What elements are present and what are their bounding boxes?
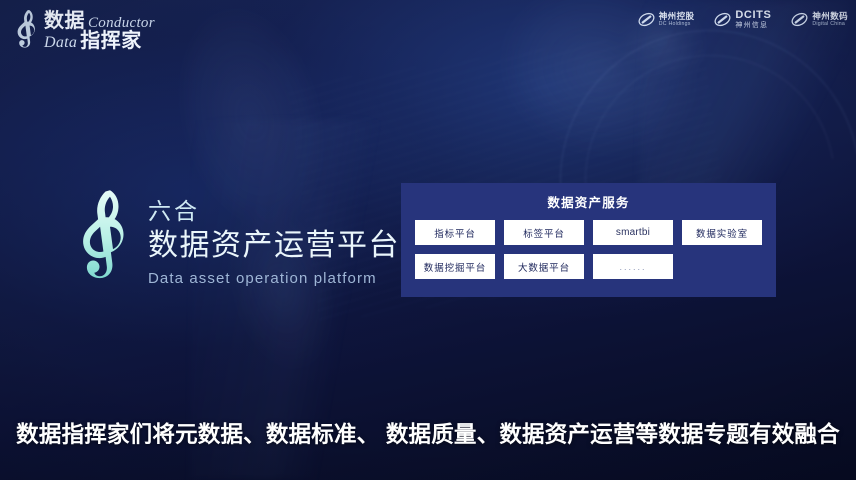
swirl-mark-icon <box>638 11 655 28</box>
partner-name-cn: 神州控股 <box>659 12 695 21</box>
partner-name-en: Digital China <box>812 22 848 27</box>
service-card-dashuju-pingtai[interactable]: 大数据平台 <box>504 254 584 279</box>
slide-canvas: 数据 Conductor Data 指挥家 神州控股 DC Holdings <box>0 0 856 480</box>
service-card-shuju-shiyanshi[interactable]: 数据实验室 <box>682 220 762 245</box>
partner-text: 神州控股 DC Holdings <box>659 12 695 27</box>
partner-logo-dcits: DCITS 神州信息 <box>714 10 771 29</box>
treble-clef-icon <box>72 186 134 298</box>
brand-line-1: 数据 Conductor <box>44 11 155 31</box>
service-card-row-1: 指标平台 标签平台 smartbi 数据实验室 <box>415 220 762 245</box>
partner-text: 神州数码 Digital China <box>812 12 848 27</box>
brand-en-2: Data <box>44 35 77 51</box>
service-card-more[interactable]: ...... <box>593 254 673 279</box>
service-card-biaoqian-pingtai[interactable]: 标签平台 <box>504 220 584 245</box>
partner-logo-dc-holdings: 神州控股 DC Holdings <box>638 11 695 28</box>
brand-en-1: Conductor <box>88 16 155 31</box>
slide-caption: 数据指挥家们将元数据、数据标准、 数据质量、数据资产运营等数据专题有效融合 <box>0 417 856 449</box>
swirl-mark-icon <box>714 11 731 28</box>
partner-text: DCITS 神州信息 <box>735 10 771 29</box>
partner-logo-group: 神州控股 DC Holdings DCITS 神州信息 神州数码 Digital… <box>638 10 848 29</box>
panel-title: 数据资产服务 <box>415 192 762 211</box>
partner-name-cn: DCITS <box>735 10 771 22</box>
hero-title: 数据资产运营平台 <box>148 226 400 265</box>
partner-name-en: DC Holdings <box>659 22 695 27</box>
treble-clef-icon <box>12 7 42 55</box>
partner-logo-digital-china: 神州数码 Digital China <box>791 11 848 28</box>
hero-text: 六合 数据资产运营平台 Data asset operation platfor… <box>148 197 400 288</box>
arc-texture-inner <box>536 6 856 354</box>
partner-name-en: 神州信息 <box>735 22 771 29</box>
service-card-shuju-wajue-pingtai[interactable]: 数据挖掘平台 <box>415 254 495 279</box>
brand-cn-1: 数据 <box>44 11 85 31</box>
service-card-smartbi[interactable]: smartbi <box>593 220 673 245</box>
partner-name-cn: 神州数码 <box>812 12 848 21</box>
data-asset-service-panel: 数据资产服务 指标平台 标签平台 smartbi 数据实验室 数据挖掘平台 大数… <box>401 183 776 297</box>
service-card-zhibiao-pingtai[interactable]: 指标平台 <box>415 220 495 245</box>
service-card-row-2: 数据挖掘平台 大数据平台 ...... <box>415 254 762 279</box>
brand-logo: 数据 Conductor Data 指挥家 <box>12 7 155 55</box>
hero-english-subtitle: Data asset operation platform <box>148 270 400 287</box>
brand-line-2: Data 指挥家 <box>44 31 155 51</box>
hero-subtitle: 六合 <box>148 197 400 226</box>
swirl-mark-icon <box>791 11 808 28</box>
brand-cn-2: 指挥家 <box>80 31 142 51</box>
brand-wordmark: 数据 Conductor Data 指挥家 <box>44 11 155 52</box>
hero-title-block: 六合 数据资产运营平台 Data asset operation platfor… <box>72 186 400 298</box>
